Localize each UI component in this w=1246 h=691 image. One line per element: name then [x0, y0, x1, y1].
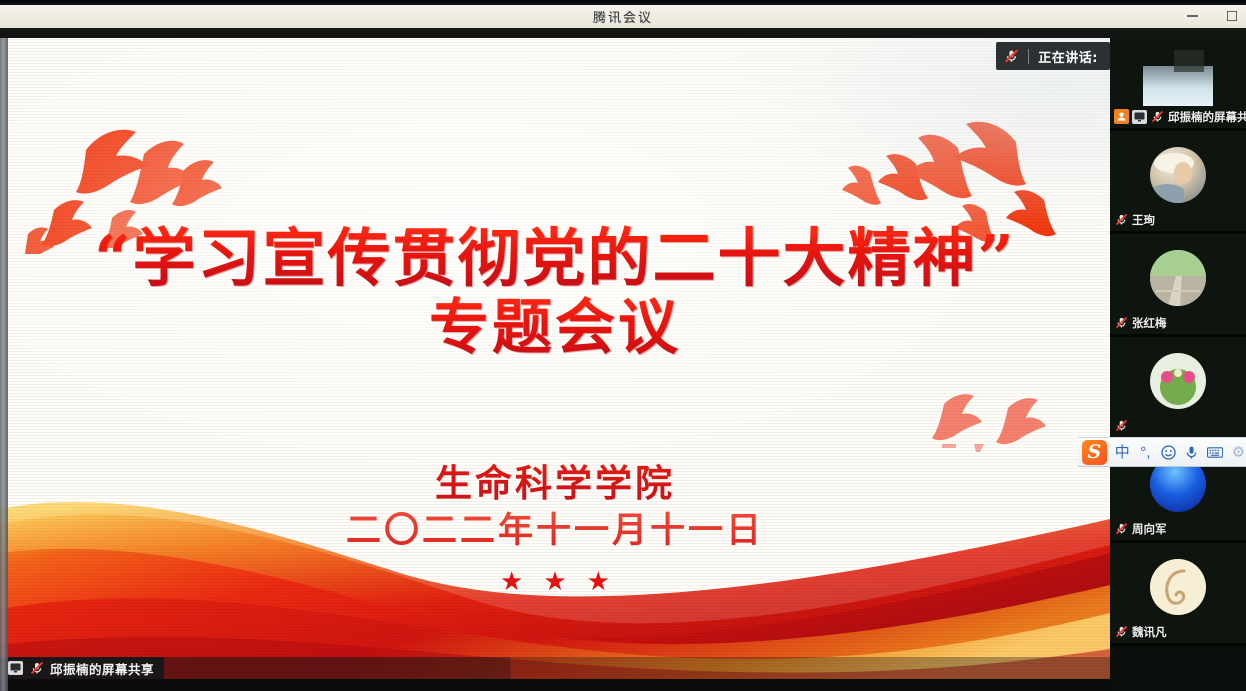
sogou-logo-icon[interactable]: S — [1082, 440, 1107, 465]
minimize-button[interactable] — [1182, 4, 1202, 28]
participant-name: 邱振楠的屏幕共享 — [1168, 109, 1246, 125]
slide-subtitle-block: 生命科学学院 二〇二二年十一月十一日 ★ ★ ★ — [0, 460, 1110, 594]
emoji-icon[interactable] — [1161, 441, 1176, 463]
active-speaker-label: 正在讲话: — [1038, 47, 1098, 66]
organization-name: 生命科学学院 — [0, 460, 1110, 506]
voice-input-icon[interactable] — [1184, 441, 1199, 463]
mic-off-icon — [1114, 315, 1129, 330]
screen-share-status-label: 邱振楠的屏幕共享 — [50, 659, 154, 678]
screen-bezel-bottom — [0, 679, 1246, 691]
tencent-meeting-window: 腾讯会议 — [0, 0, 1246, 691]
window-titlebar[interactable]: 腾讯会议 — [0, 4, 1246, 28]
participant-namebar: 魏讯凡 — [1110, 623, 1167, 640]
participant-namebar: 邱振楠的屏幕共享 — [1110, 108, 1246, 125]
slide-date: 二〇二二年十一月十一日 — [0, 508, 1110, 554]
avatar-backdrop — [1174, 50, 1204, 72]
mic-off-icon — [1004, 49, 1019, 64]
soft-keyboard-icon[interactable] — [1207, 441, 1223, 463]
participant-tile[interactable]: 邱振楠的屏幕共享 — [1110, 28, 1246, 131]
avatar — [1150, 353, 1206, 409]
participant-tile[interactable]: 张红梅 — [1110, 234, 1246, 337]
mic-off-icon — [29, 661, 44, 676]
sogou-ime-toolbar[interactable]: S 中 °, ⚙ — [1078, 437, 1246, 467]
monitor-icon — [1132, 110, 1147, 124]
banner-divider — [1028, 49, 1029, 64]
window-chrome-band — [0, 28, 1246, 38]
star-icon: ★ — [500, 568, 523, 594]
shared-screen-content: “学习宣传贯彻党的二十大精神” 专题会议 生命科学学院 二〇二二年十一月十一日 … — [0, 36, 1110, 679]
slide-title-block: “学习宣传贯彻党的二十大精神” 专题会议 — [0, 224, 1110, 365]
participant-name: 魏讯凡 — [1132, 624, 1167, 640]
avatar — [1150, 250, 1206, 306]
star-decoration: ★ ★ ★ — [0, 568, 1110, 594]
participant-namebar: 张红梅 — [1110, 314, 1167, 331]
mic-off-icon — [1114, 212, 1129, 227]
slide-title-line-2: 专题会议 — [0, 292, 1110, 365]
mic-off-icon — [1114, 624, 1129, 639]
active-speaker-banner: 正在讲话: — [996, 42, 1110, 70]
sidebar-scrollbar[interactable] — [0, 28, 8, 691]
participant-tile[interactable] — [1110, 337, 1246, 440]
participant-name: 张红梅 — [1132, 315, 1167, 331]
star-icon: ★ — [587, 568, 610, 594]
chinese-mode-icon[interactable]: 中 — [1115, 441, 1130, 463]
bottom-overlay-strip — [0, 657, 1110, 679]
participant-namebar: 周向军 — [1110, 520, 1167, 537]
monitor-icon — [8, 661, 23, 675]
maximize-button[interactable] — [1222, 4, 1242, 28]
screen-bezel-top — [0, 0, 1246, 5]
participant-name: 周向军 — [1132, 521, 1167, 537]
participant-tile[interactable]: 王珣 — [1110, 131, 1246, 234]
mic-off-icon — [1114, 521, 1129, 536]
participant-tile[interactable]: 魏讯凡 — [1110, 543, 1246, 646]
avatar — [1150, 147, 1206, 203]
participant-namebar: 王珣 — [1110, 211, 1155, 228]
avatar — [1150, 559, 1206, 615]
mic-off-icon — [1150, 109, 1165, 124]
toolbox-icon[interactable]: ⚙ — [1231, 441, 1246, 463]
app-title: 腾讯会议 — [593, 7, 653, 26]
participant-name: 王珣 — [1132, 212, 1155, 228]
window-controls — [1182, 4, 1246, 28]
slide-title-line-1: “学习宣传贯彻党的二十大精神” — [0, 224, 1110, 292]
punctuation-icon[interactable]: °, — [1138, 441, 1153, 463]
participant-namebar — [1110, 417, 1132, 434]
presentation-slide: “学习宣传贯彻党的二十大精神” 专题会议 生命科学学院 二〇二二年十一月十一日 … — [0, 36, 1110, 679]
screen-share-status-bar[interactable]: 邱振楠的屏幕共享 — [2, 657, 164, 679]
star-icon: ★ — [543, 568, 566, 594]
host-icon — [1114, 109, 1129, 124]
dove-pair-small — [930, 388, 1050, 458]
participant-sidebar: 邱振楠的屏幕共享 王珣 张红梅 — [1110, 28, 1246, 691]
mic-off-icon — [1114, 418, 1129, 433]
avatar — [1143, 66, 1213, 106]
